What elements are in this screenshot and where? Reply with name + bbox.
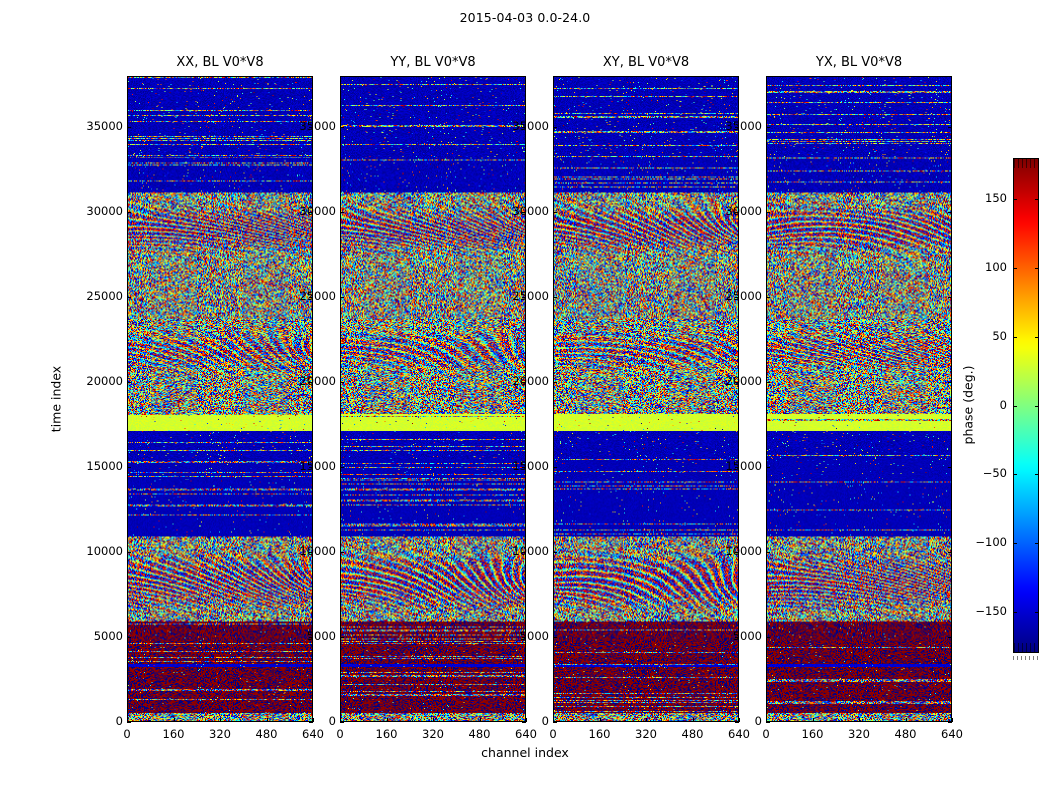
x-tick-mark: [433, 718, 434, 722]
x-tick-mark: [267, 718, 268, 722]
y-tick-label: 10000: [71, 546, 123, 557]
y-axis-label: time index: [49, 366, 64, 432]
y-tick-mark: [127, 382, 131, 383]
y-tick-mark: [127, 297, 131, 298]
y-tick-label: 10000: [710, 546, 762, 557]
y-tick-label: 15000: [710, 461, 762, 472]
x-tick-label: 160: [791, 729, 835, 740]
x-tick-mark: [553, 718, 554, 722]
colorbar-tick-label: 50: [961, 331, 1007, 342]
y-tick-label: 30000: [497, 206, 549, 217]
panel-title-yy: YY, BL V0*V8: [340, 54, 526, 72]
y-tick-mark: [553, 212, 557, 213]
y-tick-mark: [553, 637, 557, 638]
y-tick-mark: [948, 382, 952, 383]
y-tick-label: 20000: [284, 376, 336, 387]
y-tick-mark: [948, 637, 952, 638]
colorbar-tick-mark: [1035, 268, 1039, 269]
waterfall-panel-yx[interactable]: [766, 76, 952, 722]
y-tick-label: 15000: [284, 461, 336, 472]
x-tick-mark: [952, 718, 953, 722]
colorbar-tick-label: −50: [961, 468, 1007, 479]
x-tick-mark: [600, 718, 601, 722]
y-tick-label: 20000: [497, 376, 549, 387]
x-tick-mark: [340, 718, 341, 722]
colorbar-tick-mark: [1035, 406, 1039, 407]
x-tick-mark: [127, 718, 128, 722]
y-tick-mark: [766, 467, 770, 468]
colorbar-tick-mark: [1013, 543, 1017, 544]
y-tick-label: 0: [710, 716, 762, 727]
x-tick-label: 320: [411, 729, 455, 740]
colorbar-tick-label: −100: [961, 537, 1007, 548]
waterfall-panel-xx[interactable]: [127, 76, 313, 722]
y-tick-mark: [766, 212, 770, 213]
colorbar-tick-mark: [1013, 612, 1017, 613]
y-tick-mark: [340, 127, 344, 128]
x-tick-label: 480: [671, 729, 715, 740]
y-tick-label: 10000: [284, 546, 336, 557]
y-tick-mark: [553, 297, 557, 298]
y-tick-label: 5000: [497, 631, 549, 642]
y-tick-mark: [766, 127, 770, 128]
colorbar-tick-mark: [1013, 268, 1017, 269]
y-tick-label: 5000: [71, 631, 123, 642]
y-tick-mark: [553, 552, 557, 553]
panel-title-yx: YX, BL V0*V8: [766, 54, 952, 72]
colorbar-tick-label: 150: [961, 193, 1007, 204]
y-tick-mark: [766, 722, 770, 723]
panel-title-xx: XX, BL V0*V8: [127, 54, 313, 72]
y-tick-mark: [340, 212, 344, 213]
y-tick-label: 25000: [710, 291, 762, 302]
y-tick-mark: [127, 212, 131, 213]
figure-canvas: 2015-04-03 0.0-24.0 XX, BL V0*V8 YY, BL …: [0, 0, 1050, 800]
waterfall-panel-xy[interactable]: [553, 76, 739, 722]
x-tick-label: 0: [744, 729, 788, 740]
waterfall-image-xx: [128, 77, 312, 721]
y-tick-label: 0: [71, 716, 123, 727]
colorbar-tick-mark: [1035, 474, 1039, 475]
colorbar-tick-label: 0: [961, 400, 1007, 411]
y-tick-mark: [948, 212, 952, 213]
waterfall-image-yy: [341, 77, 525, 721]
colorbar-tick-mark: [1035, 337, 1039, 338]
x-tick-label: 480: [458, 729, 502, 740]
y-tick-mark: [948, 127, 952, 128]
panel-title-xy: XY, BL V0*V8: [553, 54, 739, 72]
y-tick-mark: [553, 127, 557, 128]
x-tick-mark: [480, 718, 481, 722]
x-tick-label: 480: [245, 729, 289, 740]
y-tick-mark: [553, 382, 557, 383]
y-tick-mark: [340, 382, 344, 383]
x-tick-label: 160: [365, 729, 409, 740]
y-tick-label: 25000: [284, 291, 336, 302]
colorbar-tick-label: −150: [961, 606, 1007, 617]
y-tick-mark: [127, 127, 131, 128]
y-tick-mark: [766, 552, 770, 553]
y-tick-label: 25000: [71, 291, 123, 302]
y-tick-mark: [127, 552, 131, 553]
figure-suptitle: 2015-04-03 0.0-24.0: [0, 10, 1050, 25]
y-tick-mark: [766, 382, 770, 383]
y-tick-label: 30000: [71, 206, 123, 217]
colorbar-tick-label: 100: [961, 262, 1007, 273]
colorbar-tick-mark: [1013, 474, 1017, 475]
x-tick-label: 0: [105, 729, 149, 740]
y-tick-mark: [127, 467, 131, 468]
y-tick-mark: [340, 297, 344, 298]
y-tick-label: 20000: [710, 376, 762, 387]
y-tick-mark: [766, 637, 770, 638]
x-tick-mark: [693, 718, 694, 722]
colorbar-tick-mark: [1013, 406, 1017, 407]
y-tick-mark: [553, 722, 557, 723]
y-tick-label: 25000: [497, 291, 549, 302]
y-tick-mark: [553, 467, 557, 468]
y-tick-label: 30000: [710, 206, 762, 217]
y-tick-label: 30000: [284, 206, 336, 217]
y-tick-label: 10000: [497, 546, 549, 557]
y-tick-mark: [340, 467, 344, 468]
y-tick-mark: [127, 637, 131, 638]
waterfall-panel-yy[interactable]: [340, 76, 526, 722]
colorbar-tick-mark: [1013, 337, 1017, 338]
y-tick-mark: [340, 552, 344, 553]
y-tick-mark: [340, 722, 344, 723]
y-tick-label: 0: [284, 716, 336, 727]
y-tick-label: 20000: [71, 376, 123, 387]
y-tick-label: 35000: [710, 121, 762, 132]
colorbar-tick-mark: [1035, 543, 1039, 544]
y-tick-label: 35000: [284, 121, 336, 132]
x-tick-mark: [387, 718, 388, 722]
y-tick-label: 15000: [71, 461, 123, 472]
colorbar-underline: [1013, 656, 1039, 660]
x-tick-label: 320: [198, 729, 242, 740]
x-tick-mark: [766, 718, 767, 722]
y-tick-mark: [766, 297, 770, 298]
x-axis-label: channel index: [0, 745, 1050, 760]
x-tick-label: 160: [152, 729, 196, 740]
x-tick-label: 640: [930, 729, 974, 740]
x-tick-mark: [906, 718, 907, 722]
y-tick-label: 5000: [284, 631, 336, 642]
x-tick-mark: [859, 718, 860, 722]
waterfall-image-xy: [554, 77, 738, 721]
x-tick-mark: [646, 718, 647, 722]
colorbar-tick-mark: [1013, 199, 1017, 200]
y-tick-label: 35000: [71, 121, 123, 132]
colorbar-extend-top: [1014, 159, 1038, 168]
colorbar-tick-mark: [1035, 612, 1039, 613]
x-tick-mark: [813, 718, 814, 722]
x-tick-label: 480: [884, 729, 928, 740]
y-tick-mark: [948, 722, 952, 723]
x-tick-mark: [220, 718, 221, 722]
x-tick-label: 320: [837, 729, 881, 740]
colorbar-tick-mark: [1035, 199, 1039, 200]
y-tick-label: 0: [497, 716, 549, 727]
y-tick-mark: [948, 467, 952, 468]
y-tick-label: 5000: [710, 631, 762, 642]
waterfall-image-yx: [767, 77, 951, 721]
x-tick-label: 160: [578, 729, 622, 740]
y-tick-mark: [340, 637, 344, 638]
x-tick-mark: [174, 718, 175, 722]
x-tick-label: 0: [318, 729, 362, 740]
y-tick-mark: [948, 552, 952, 553]
x-tick-label: 320: [624, 729, 668, 740]
colorbar-extend-bottom: [1014, 643, 1038, 652]
y-tick-label: 15000: [497, 461, 549, 472]
y-tick-mark: [948, 297, 952, 298]
y-tick-mark: [127, 722, 131, 723]
x-tick-label: 0: [531, 729, 575, 740]
y-tick-label: 35000: [497, 121, 549, 132]
